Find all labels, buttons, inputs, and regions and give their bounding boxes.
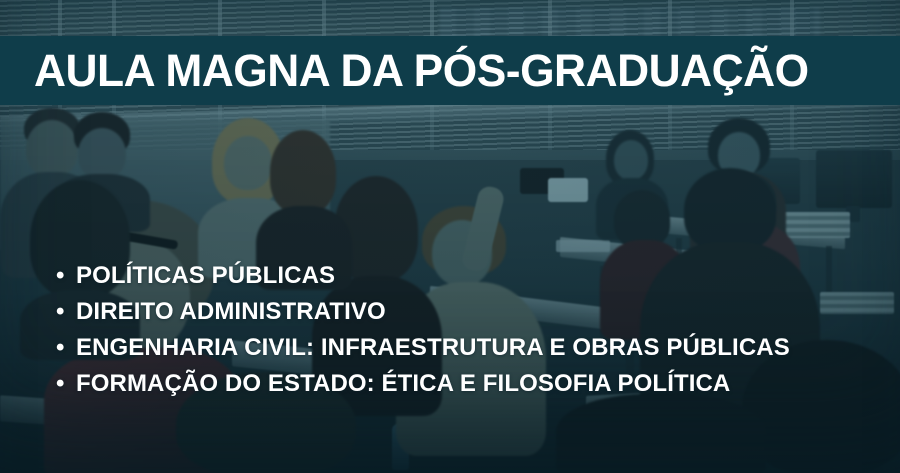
bullet-icon: • — [56, 372, 76, 396]
bullet-icon: • — [56, 336, 76, 360]
list-item: • FORMAÇÃO DO ESTADO: ÉTICA E FILOSOFIA … — [56, 370, 790, 406]
topic-label: ENGENHARIA CIVIL: INFRAESTRUTURA E OBRAS… — [76, 334, 790, 362]
topic-label: FORMAÇÃO DO ESTADO: ÉTICA E FILOSOFIA PO… — [76, 370, 730, 398]
list-item: • ENGENHARIA CIVIL: INFRAESTRUTURA E OBR… — [56, 334, 790, 370]
list-item: • DIREITO ADMINISTRATIVO — [56, 298, 790, 334]
list-item: • POLÍTICAS PÚBLICAS — [56, 262, 790, 298]
bullet-icon: • — [56, 300, 76, 324]
promotional-poster: AULA MAGNA DA PÓS-GRADUAÇÃO • POLÍTICAS … — [0, 0, 900, 473]
title-banner: AULA MAGNA DA PÓS-GRADUAÇÃO — [0, 36, 900, 105]
topics-list: • POLÍTICAS PÚBLICAS • DIREITO ADMINISTR… — [56, 262, 790, 406]
topic-label: POLÍTICAS PÚBLICAS — [76, 262, 335, 290]
page-title: AULA MAGNA DA PÓS-GRADUAÇÃO — [34, 48, 809, 93]
bullet-icon: • — [56, 264, 76, 288]
topic-label: DIREITO ADMINISTRATIVO — [76, 298, 386, 326]
